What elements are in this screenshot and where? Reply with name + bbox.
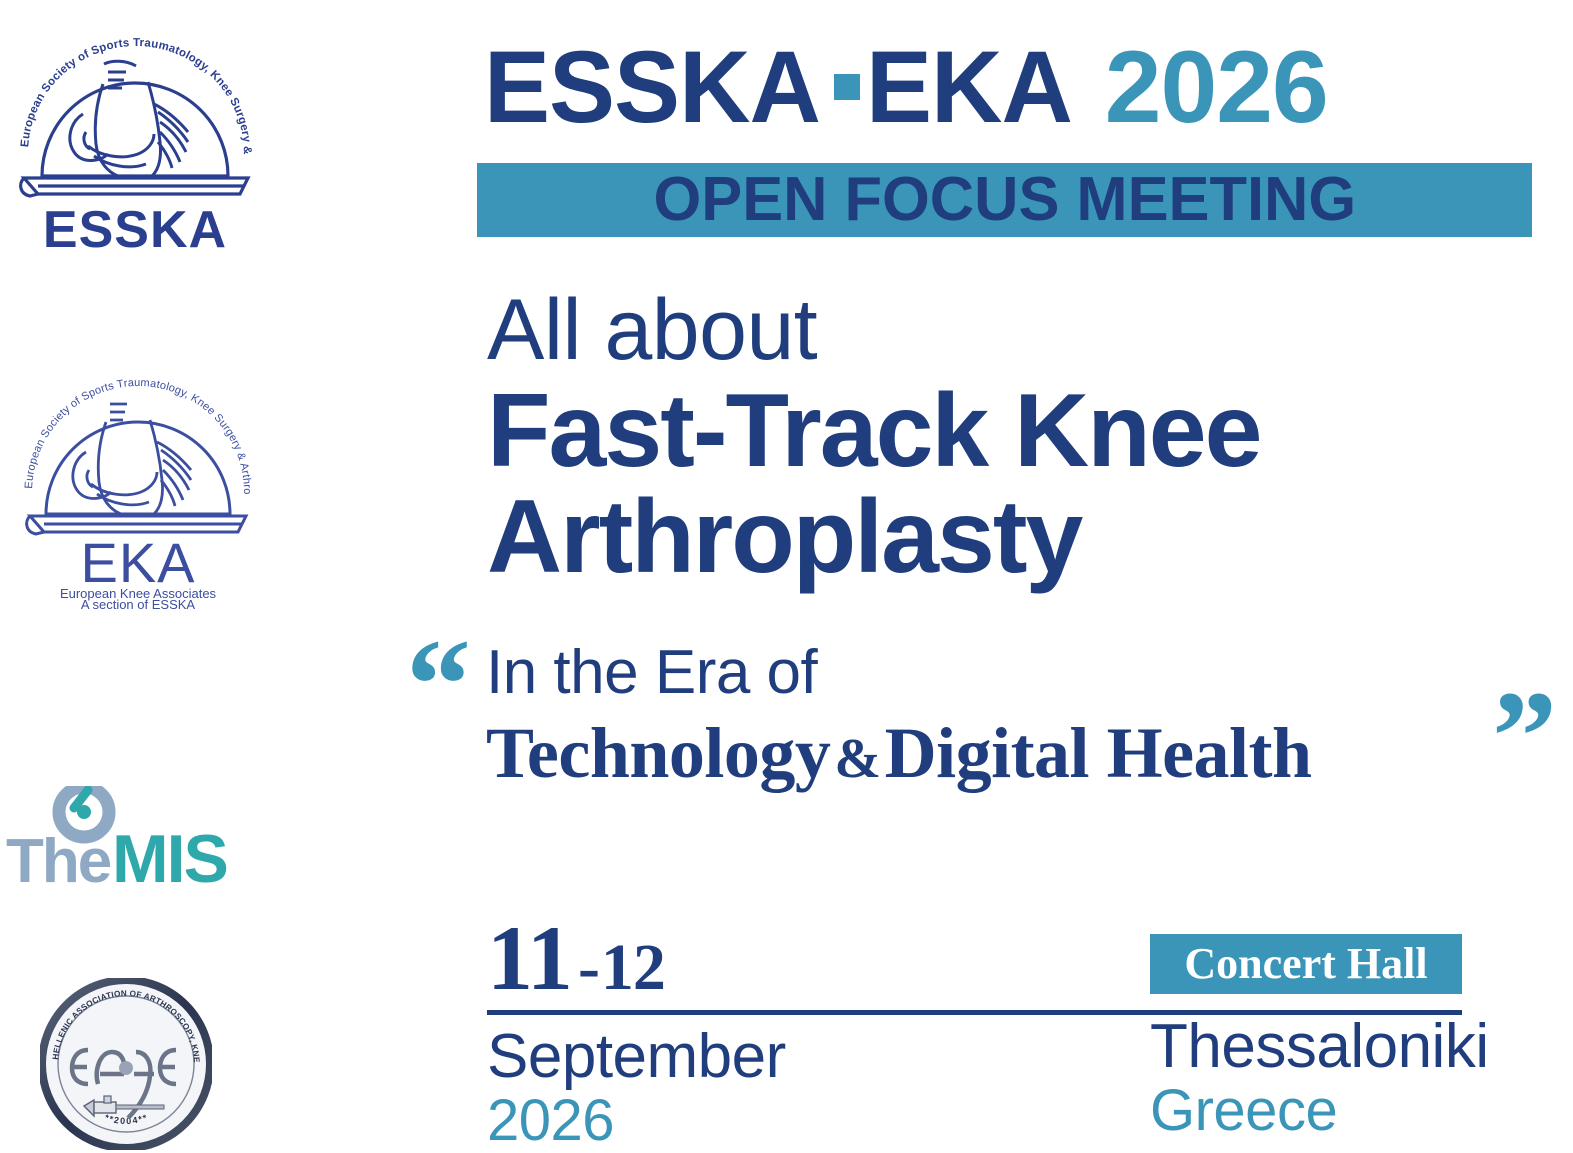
date-block: 11-12 September 2026	[487, 912, 1087, 1152]
date-day-start: 11	[487, 907, 572, 1009]
event-title-part2: EKA	[866, 36, 1072, 138]
headline: All about Fast-Track Knee Arthroplasty	[487, 288, 1547, 590]
date-month: September	[487, 1024, 1087, 1091]
event-title: ESSKA EKA 2026	[484, 36, 1328, 144]
subtitle-quote-lines: In the Era of Technology&Digital Health	[486, 640, 1312, 794]
subtitle-line2: Technology&Digital Health	[486, 713, 1312, 794]
close-quote-icon: ”	[1492, 672, 1557, 802]
subtitle-line2-technology: Technology	[486, 713, 830, 793]
venue-country: Greece	[1150, 1081, 1573, 1142]
date-day-separator: -	[572, 931, 601, 1004]
poster-content: ESSKA EKA 2026 OPEN FOCUS MEETING All ab…	[0, 0, 1573, 1144]
date-days: 11-12	[487, 912, 1087, 1004]
subtitle-quote: “ In the Era of Technology&Digital Healt…	[400, 636, 1573, 816]
date-day-end: 12	[601, 931, 665, 1004]
meeting-type-banner: OPEN FOCUS MEETING	[477, 163, 1532, 237]
open-quote-icon: “	[406, 620, 471, 750]
event-year: 2026	[1105, 36, 1328, 138]
event-title-part1: ESSKA	[484, 36, 820, 138]
date-year: 2026	[487, 1091, 1087, 1152]
venue-name: Concert Hall	[1184, 942, 1427, 986]
headline-intro: All about	[487, 288, 1547, 372]
headline-topic: Fast-Track Knee Arthroplasty	[487, 378, 1547, 590]
headline-topic-line1: Fast-Track Knee	[487, 378, 1547, 484]
meeting-type-label: OPEN FOCUS MEETING	[653, 169, 1356, 231]
venue-badge: Concert Hall	[1150, 934, 1462, 994]
venue-city: Thessaloniki	[1150, 1014, 1573, 1081]
subtitle-line2-ampersand: &	[830, 728, 884, 790]
headline-topic-line2: Arthroplasty	[487, 484, 1547, 590]
event-details-row: 11-12 September 2026 Concert Hall Thessa…	[0, 912, 1573, 1144]
subtitle-line1: In the Era of	[486, 640, 1312, 705]
venue-block: Concert Hall Thessaloniki Greece	[1150, 912, 1573, 1142]
subtitle-line2-digital-health: Digital Health	[885, 713, 1312, 793]
square-dash-icon	[834, 74, 860, 100]
